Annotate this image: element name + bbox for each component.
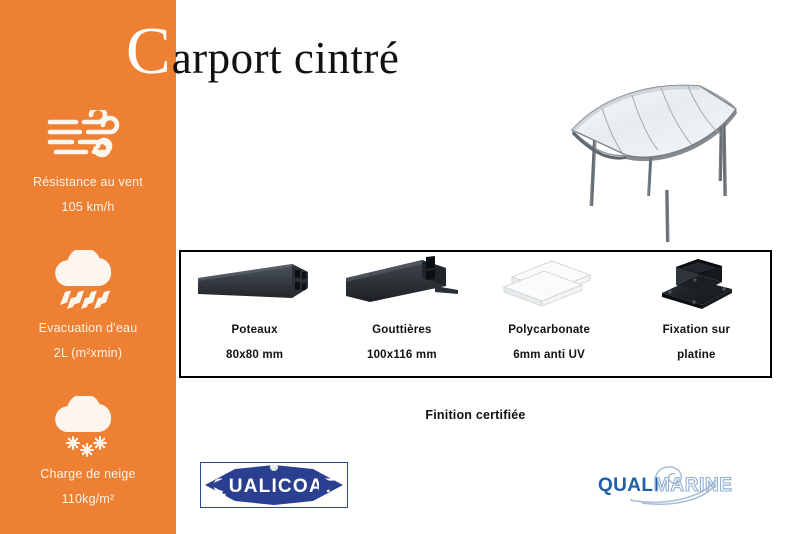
spec-water-label: Evacuation d'eau [0, 321, 176, 335]
component-gouttieres-name: Gouttières [372, 324, 432, 336]
spec-snow-value: 110kg/m² [0, 492, 176, 506]
snow-cloud-icon [0, 396, 176, 458]
gutter-profile-image [328, 256, 475, 312]
spec-snow-load: Charge de neige 110kg/m² [0, 396, 176, 506]
base-plate-fixing-image [623, 256, 770, 312]
spec-wind-label: Résistance au vent [0, 175, 176, 189]
post-profile-image [181, 256, 328, 312]
components-box: Poteaux 80x80 mm [179, 250, 772, 378]
carport-product-sheet: Résistance au vent 105 km/h [0, 0, 800, 534]
qualimarine-logo-label: QUALI [740, 460, 741, 461]
qualimarine-logo-text-light: MARINE [654, 475, 733, 496]
certification-title: Finition certifiée [179, 408, 772, 422]
component-fixation: Fixation sur platine [623, 252, 770, 376]
component-polycarbonate-size: 6mm anti UV [513, 349, 585, 361]
spec-wind-value: 105 km/h [0, 200, 176, 214]
component-fixation-size: platine [677, 349, 715, 361]
page-title: C arport cintré [126, 18, 399, 84]
spec-water-drainage: Evacuation d'eau 2L (m²xmin) [0, 250, 176, 360]
qualimarine-logo: QUALI MARINE QUALI [590, 460, 740, 508]
spec-water-value: 2L (m²xmin) [0, 346, 176, 360]
component-polycarbonate: Polycarbonate 6mm anti UV [476, 252, 623, 376]
component-fixation-name: Fixation sur [663, 324, 731, 336]
qualicoat-logo: QUALICOAT QUALICOAT [200, 462, 348, 508]
wind-icon [0, 104, 176, 166]
rain-cloud-icon [0, 250, 176, 312]
component-gouttieres-size: 100x116 mm [367, 349, 437, 361]
curved-carport-illustration [540, 82, 792, 244]
qualicoat-logo-text: QUALICOAT [213, 476, 335, 497]
page-title-rest: arport cintré [172, 36, 400, 81]
polycarbonate-sheet-image [476, 256, 623, 312]
spec-snow-label: Charge de neige [0, 467, 176, 481]
component-polycarbonate-name: Polycarbonate [508, 324, 590, 336]
component-poteaux: Poteaux 80x80 mm [181, 252, 328, 376]
component-poteaux-size: 80x80 mm [226, 349, 283, 361]
component-gouttieres: Gouttières 100x116 mm [328, 252, 475, 376]
component-poteaux-name: Poteaux [232, 324, 278, 336]
qualimarine-logo-text-bold: QUALI [598, 475, 659, 496]
page-title-initial: C [126, 18, 171, 85]
spec-wind: Résistance au vent 105 km/h [0, 104, 176, 214]
